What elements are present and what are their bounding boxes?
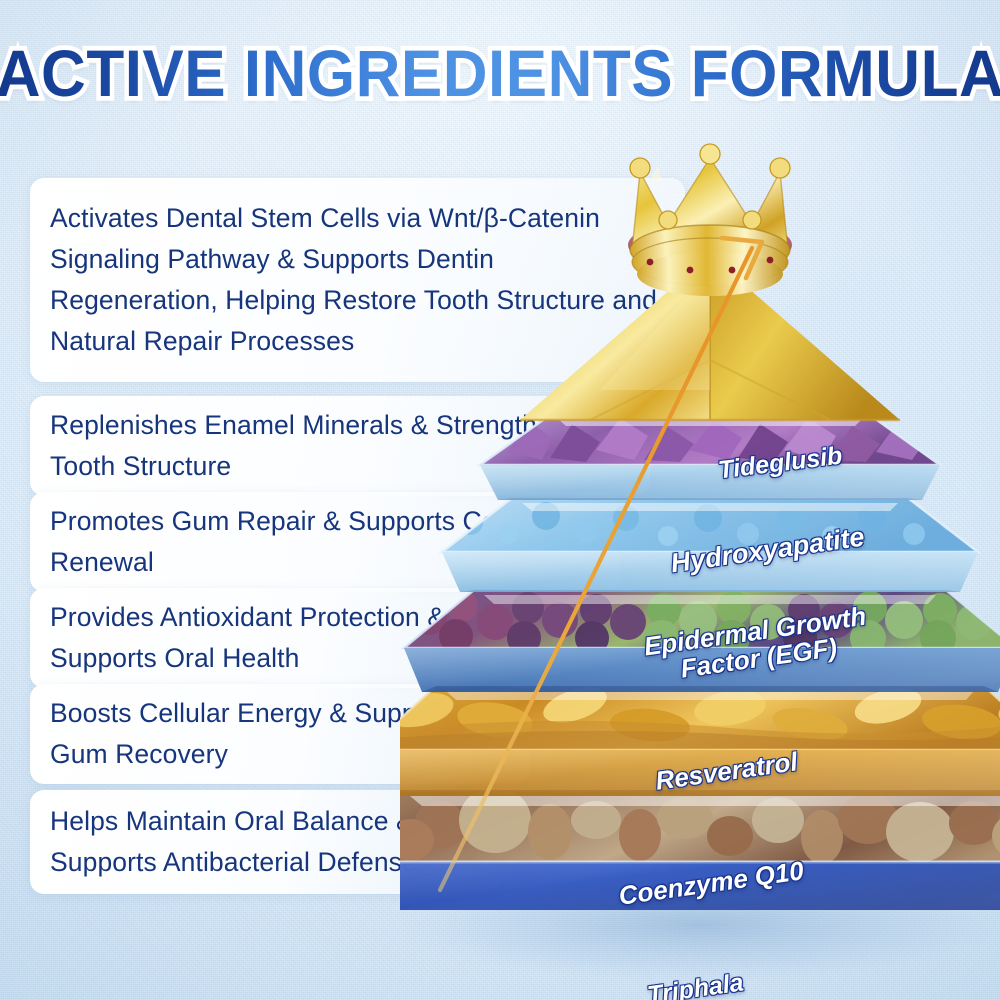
page-title: ACTIVE INGREDIENTS FORMULA ACTIVE INGRED… — [0, 36, 1000, 114]
tier-egf — [440, 490, 980, 592]
ingredient-pyramid: Tideglusib Hydroxyapatite Epidermal Grow… — [400, 120, 1000, 1000]
page-title-text: ACTIVE INGREDIENTS FORMULA — [0, 42, 1000, 108]
crown-icon — [628, 144, 792, 296]
tier-hydroxyapatite — [478, 408, 942, 500]
